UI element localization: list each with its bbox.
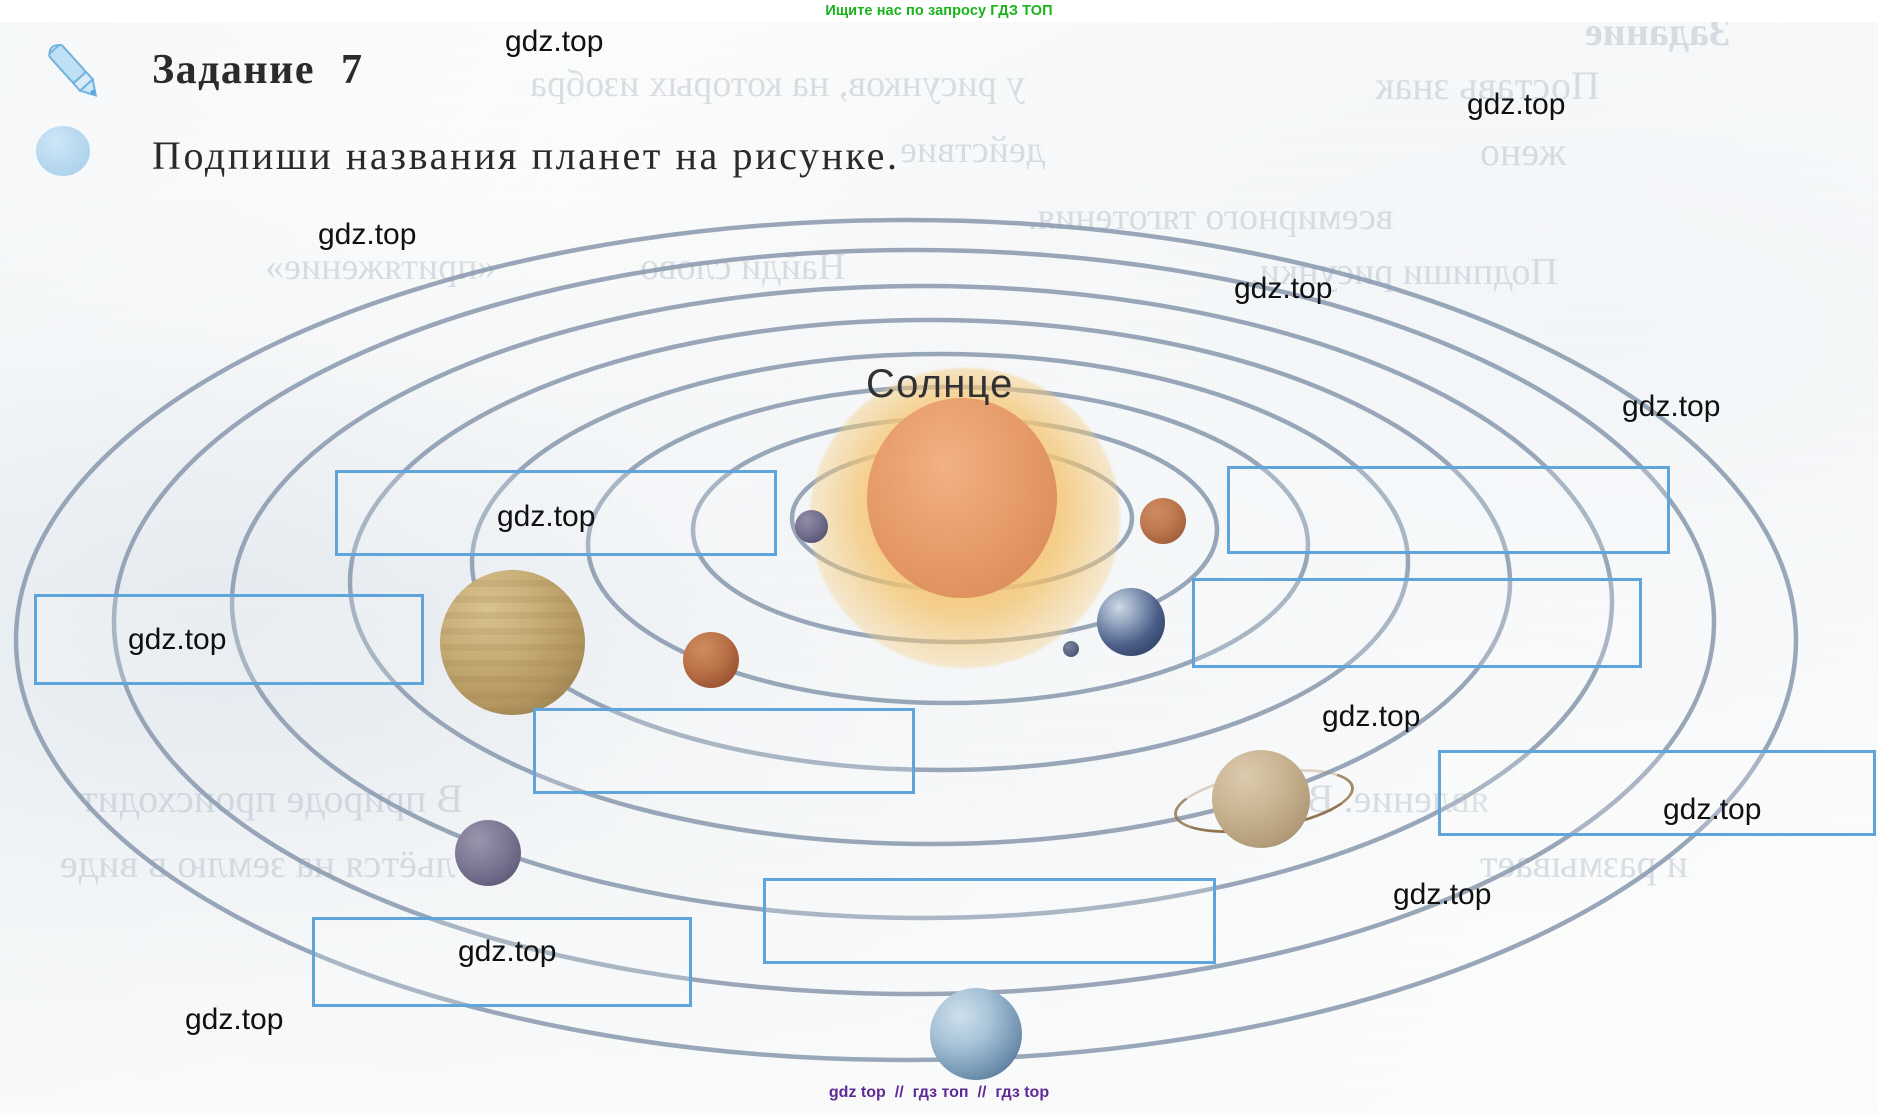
answer-box-6[interactable] xyxy=(1438,750,1876,836)
bottom-promo-banner: gdz top // гдз топ // гдз top xyxy=(0,1080,1878,1106)
answer-box-2[interactable] xyxy=(1227,466,1670,554)
watermark-4: gdz.top xyxy=(1622,390,1720,424)
top-promo-banner: Ищите нас по запросу ГДЗ ТОП xyxy=(0,0,1878,22)
bullet-dot-icon xyxy=(36,126,90,176)
footer-part-3: гдз top xyxy=(995,1084,1049,1102)
pencil-icon xyxy=(38,36,110,108)
watermark-0: gdz.top xyxy=(505,25,603,59)
footer-separator-1: // xyxy=(895,1084,904,1102)
footer-separator-2: // xyxy=(978,1084,987,1102)
task-word: Задание xyxy=(152,47,315,93)
watermark-7: gdz.top xyxy=(1322,700,1420,734)
watermark-10: gdz.top xyxy=(458,935,556,969)
task-number: 7 xyxy=(341,47,364,93)
answer-box-4[interactable] xyxy=(1192,578,1642,668)
footer-part-2: гдз топ xyxy=(913,1084,969,1102)
answer-box-7[interactable] xyxy=(763,878,1216,964)
footer-part-1: gdz top xyxy=(829,1084,886,1102)
page-title: Задание7 xyxy=(152,46,363,94)
watermark-1: gdz.top xyxy=(1467,88,1565,122)
answer-box-5[interactable] xyxy=(533,708,915,794)
watermark-3: gdz.top xyxy=(1234,272,1332,306)
watermark-11: gdz.top xyxy=(185,1003,283,1037)
answer-box-3[interactable] xyxy=(34,594,424,685)
watermark-5: gdz.top xyxy=(497,500,595,534)
top-promo-text: Ищите нас по запросу ГДЗ ТОП xyxy=(825,3,1052,19)
instruction-text: Подпиши названия планет на рисунке. xyxy=(152,132,900,179)
watermark-2: gdz.top xyxy=(318,218,416,252)
watermark-8: gdz.top xyxy=(1663,793,1761,827)
watermark-9: gdz.top xyxy=(1393,878,1491,912)
watermark-6: gdz.top xyxy=(128,623,226,657)
